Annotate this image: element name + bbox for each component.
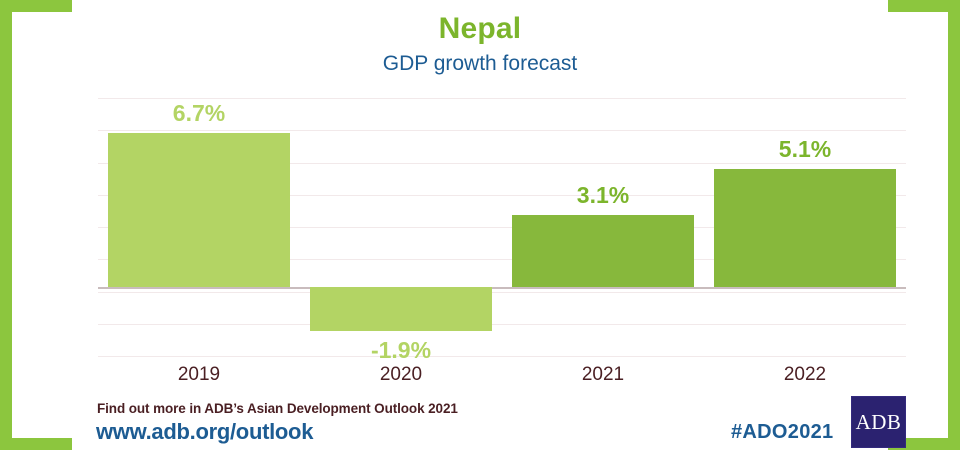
chart-gridline xyxy=(98,130,906,131)
chart-x-axis-label: 2022 xyxy=(714,364,896,386)
chart-bar-value-label: 6.7% xyxy=(108,100,290,127)
chart-zero-baseline xyxy=(98,287,906,289)
chart-bar-value-label: -1.9% xyxy=(310,337,492,364)
frame-corner-bottom-left xyxy=(0,438,72,450)
chart-x-axis-label: 2019 xyxy=(108,364,290,386)
chart-bar xyxy=(714,169,896,286)
chart-gridline xyxy=(98,356,906,357)
chart-gridline xyxy=(98,324,906,325)
footer-caption: Find out more in ADB’s Asian Development… xyxy=(97,401,458,416)
chart-bar xyxy=(108,133,290,287)
chart-x-axis-label: 2021 xyxy=(512,364,694,386)
adb-logo-text: ADB xyxy=(856,412,902,433)
chart-title: Nepal xyxy=(0,12,960,46)
footer-hashtag: #ADO2021 xyxy=(731,421,833,444)
chart-x-axis-label: 2020 xyxy=(310,364,492,386)
frame-corner-top-right xyxy=(888,0,960,12)
chart-plot-area: 6.7%-1.9%3.1%5.1% xyxy=(98,98,906,356)
footer-url-link[interactable]: www.adb.org/outlook xyxy=(96,419,313,445)
chart-gridline xyxy=(98,292,906,293)
frame-corner-top-left xyxy=(0,0,72,12)
adb-logo: ADB xyxy=(851,396,906,448)
chart-bar xyxy=(310,287,492,331)
chart-subtitle: GDP growth forecast xyxy=(0,52,960,76)
chart-bar-value-label: 5.1% xyxy=(714,136,896,163)
infographic-canvas: Nepal GDP growth forecast 6.7%-1.9%3.1%5… xyxy=(0,0,960,450)
chart-bar xyxy=(512,215,694,286)
chart-bar-value-label: 3.1% xyxy=(512,182,694,209)
